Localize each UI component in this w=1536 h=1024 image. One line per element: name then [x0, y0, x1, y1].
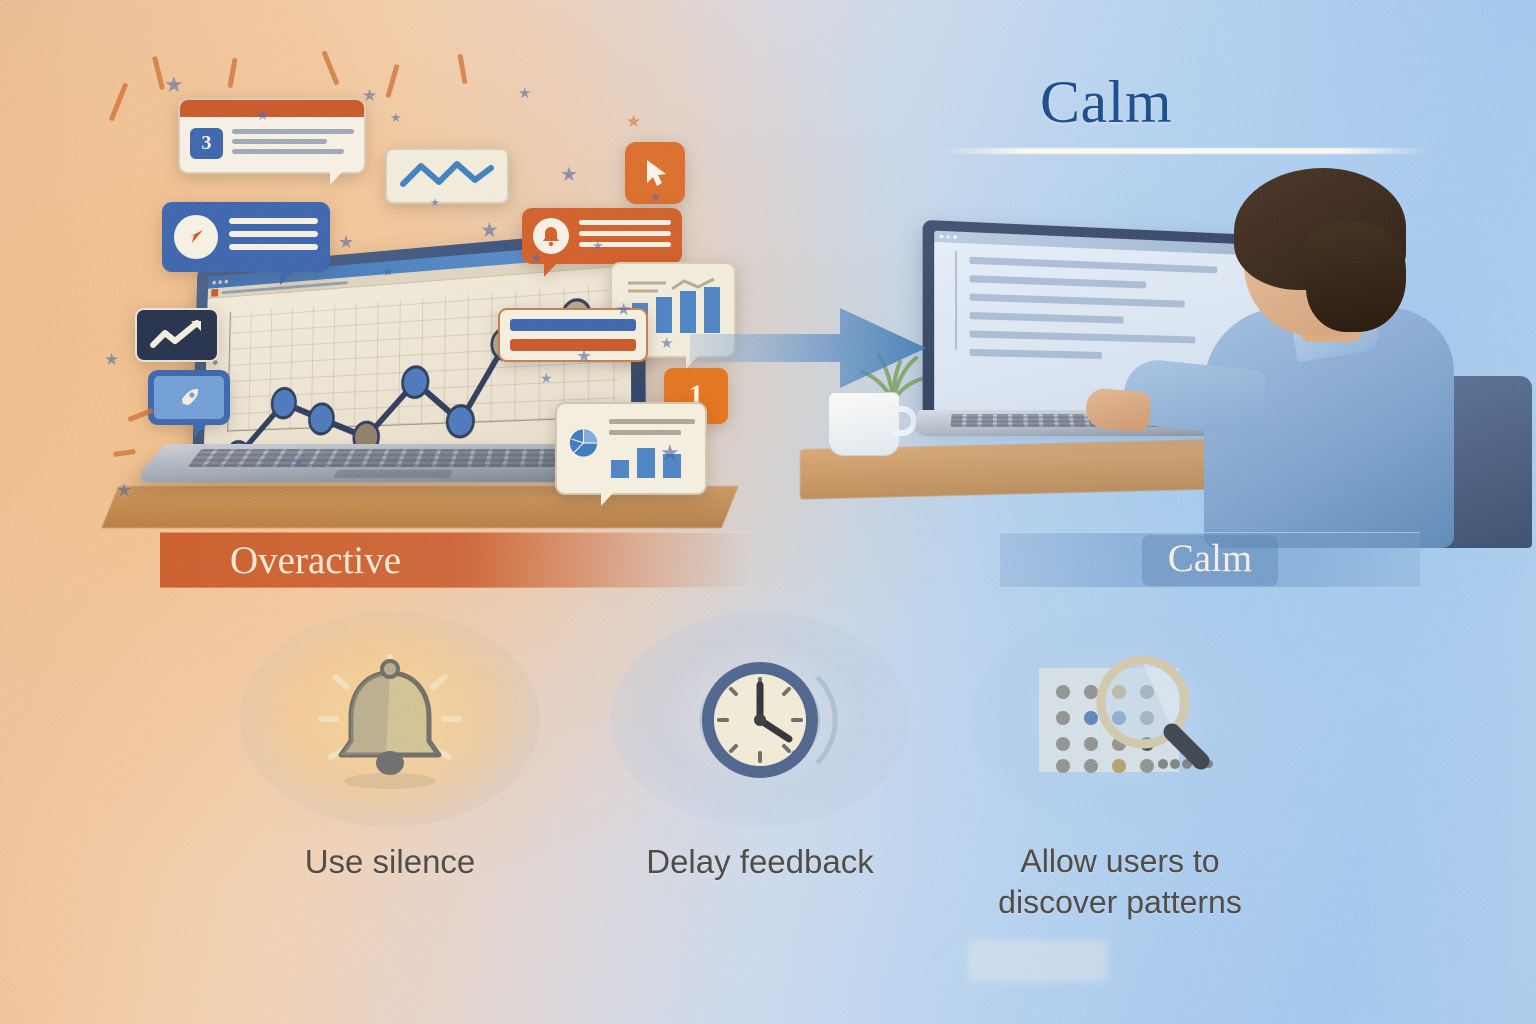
person-at-desk — [1182, 168, 1502, 558]
sparkle-star-icon: ★ — [362, 86, 377, 106]
bell-alert-icon — [533, 218, 569, 254]
spark-tick — [321, 50, 339, 85]
person-hand — [1084, 387, 1151, 432]
rocket-icon — [154, 376, 224, 419]
notification-card-navigation[interactable] — [162, 202, 330, 272]
light-patch-artifact — [968, 940, 1108, 982]
spark-tick — [457, 54, 467, 84]
window-dot — [224, 279, 228, 283]
notification-card-rocket[interactable] — [148, 370, 230, 425]
coffee-mug-icon — [828, 392, 900, 456]
sparkle-star-icon: ★ — [592, 238, 604, 254]
notification-card-linechart[interactable] — [385, 148, 509, 204]
sparkle-star-icon: ★ — [530, 250, 543, 267]
feature-icon-backdrop — [970, 612, 1270, 827]
card-header-bar — [180, 100, 364, 117]
sparkle-star-icon: ★ — [626, 112, 641, 132]
sparkle-star-icon: ★ — [116, 480, 132, 501]
feature-caption-0: Use silence — [225, 841, 555, 883]
banner-label-overactive: Overactive — [230, 538, 401, 583]
notification-card-message[interactable]: 3 — [178, 98, 366, 174]
overactive-scene: ★ ★ ★ ★ ★ ★ ★ ★ ★ ★ ★ ★ ★ ★ ★ ★ ★ ★ ★ ★ … — [60, 50, 720, 550]
sparkle-star-icon: ★ — [560, 162, 578, 187]
illustration-canvas: Calm ★ ★ ★ ★ ★ ★ ★ ★ ★ ★ ★ ★ ★ ★ ★ ★ ★ ★… — [0, 0, 1536, 1024]
unread-count-badge: 3 — [190, 128, 223, 159]
feature-icon-backdrop — [240, 612, 540, 827]
banner-label-calm: Calm — [1142, 535, 1279, 586]
spark-tick — [109, 83, 129, 122]
notification-card-trend[interactable] — [135, 308, 219, 362]
sparkle-star-icon: ★ — [650, 190, 661, 204]
sparkle-star-icon: ★ — [338, 232, 354, 253]
keyboard-left — [188, 449, 605, 467]
sparkle-star-icon: ★ — [164, 72, 184, 98]
sparkle-star-icon: ★ — [292, 454, 305, 471]
toolbar-icon — [211, 289, 218, 297]
sparkle-star-icon: ★ — [540, 370, 553, 387]
sparkle-star-icon: ★ — [382, 264, 394, 280]
person-hair-back — [1306, 222, 1406, 332]
clock-icon — [665, 635, 855, 805]
window-dot — [218, 280, 222, 284]
banner-overactive: Overactive — [160, 532, 750, 588]
sparkle-star-icon: ★ — [518, 84, 531, 102]
title-underline-divider — [940, 148, 1430, 154]
spark-tick — [227, 58, 237, 88]
sparkle-star-icon: ★ — [480, 218, 499, 243]
card-text-lines — [229, 218, 318, 257]
feature-row: Use silence — [0, 612, 1536, 952]
sparkle-star-icon: ★ — [256, 106, 269, 124]
trackpad-left — [333, 470, 452, 478]
pie-chart-bubble-icon — [567, 414, 600, 472]
notification-card-piechart[interactable] — [555, 402, 707, 495]
compass-navigation-icon — [174, 215, 218, 259]
page-title: Calm — [1040, 72, 1172, 132]
feature-delay-feedback: Delay feedback — [595, 612, 925, 883]
banner-calm: Calm — [1000, 532, 1420, 588]
bell-icon — [295, 635, 485, 805]
transition-arrow-icon — [690, 300, 930, 396]
sparkle-star-icon: ★ — [430, 196, 440, 209]
card-text-lines — [609, 414, 695, 483]
sparkle-star-icon: ★ — [660, 440, 680, 466]
magnifier-grid-icon — [1015, 640, 1225, 800]
spark-tick — [385, 64, 399, 98]
feature-caption-2: Allow users to discover patterns — [955, 841, 1285, 923]
spark-tick — [113, 449, 135, 457]
sidebar-rail — [955, 251, 957, 350]
mug-handle — [891, 406, 917, 436]
sparkle-star-icon: ★ — [660, 334, 673, 352]
feature-icon-backdrop — [610, 612, 910, 827]
feature-caption-1: Delay feedback — [595, 841, 925, 883]
trend-line-icon — [135, 308, 219, 362]
window-dot — [212, 280, 216, 284]
feature-discover-patterns: Allow users to discover patterns — [955, 612, 1285, 923]
sparkle-star-icon: ★ — [390, 110, 402, 126]
sparkle-star-icon: ★ — [616, 300, 631, 320]
sparkle-star-icon: ★ — [104, 350, 119, 370]
line-chart-card-icon — [385, 148, 509, 204]
card-text-lines — [232, 129, 354, 159]
notification-card-bell[interactable] — [522, 208, 682, 264]
feature-use-silence: Use silence — [225, 612, 555, 883]
field-row-primary — [510, 319, 636, 331]
field-row-secondary — [510, 339, 636, 351]
sparkle-star-icon: ★ — [576, 346, 592, 367]
